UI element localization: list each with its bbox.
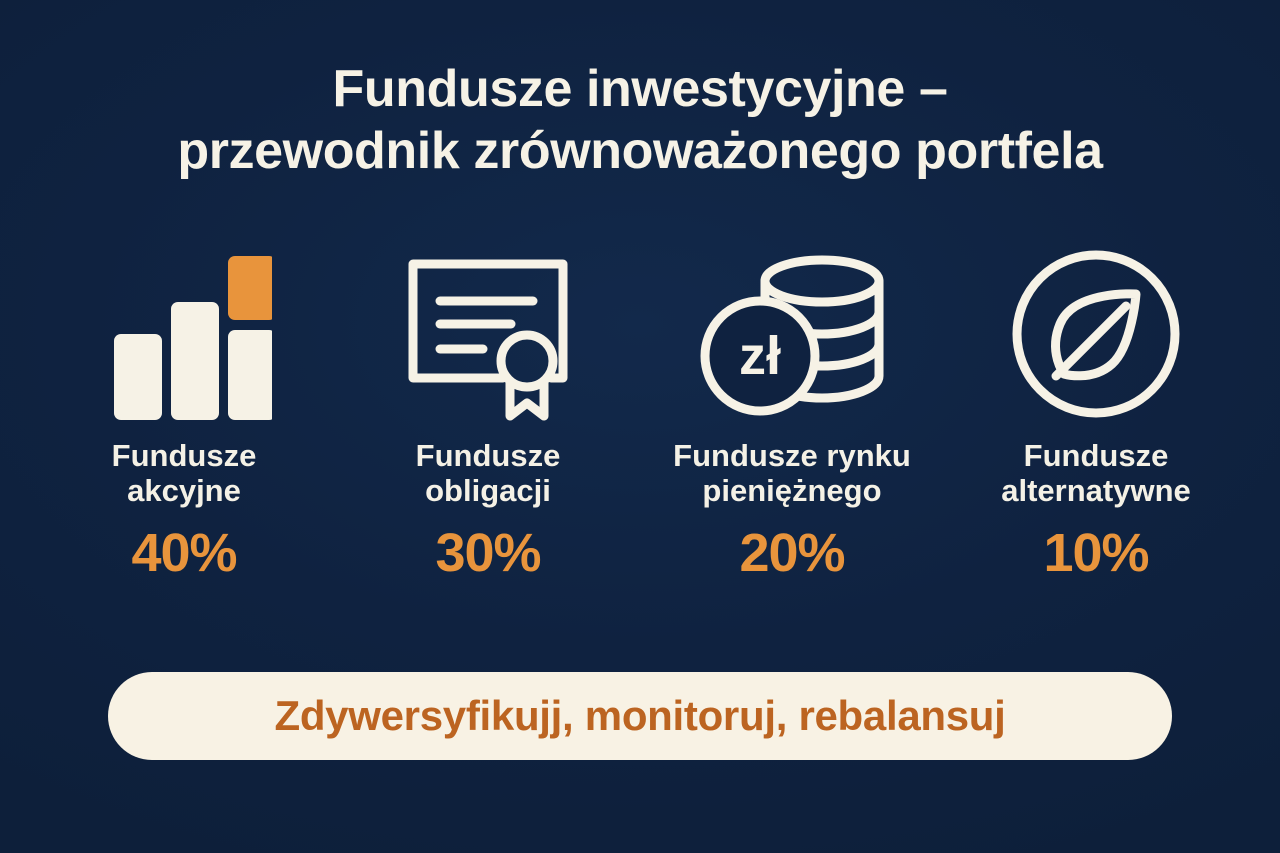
title-line-2: przewodnik zrównoważonego portfela — [40, 120, 1240, 182]
allocation-column-money-market: zł Fundusze rynku pieniężnego 20% — [656, 246, 928, 580]
column-label-line-1: Fundusze — [1001, 438, 1191, 473]
page-title: Fundusze inwestycyjne – przewodnik zrówn… — [0, 58, 1280, 183]
column-label-line-1: Fundusze — [416, 438, 561, 473]
coin-currency-label: zł — [739, 326, 781, 386]
allocation-column-equity: Fundusze akcyjne 40% — [48, 246, 320, 580]
column-label-line-1: Fundusze — [112, 438, 257, 473]
column-label-line-2: alternatywne — [1001, 473, 1191, 508]
column-label: Fundusze obligacji — [416, 438, 561, 508]
allocation-column-alternative: Fundusze alternatywne 10% — [960, 246, 1232, 580]
banner-text: Zdywersyfikujj, monitoruj, rebalansuj — [274, 692, 1005, 740]
title-line-1: Fundusze inwestycyjne – — [40, 58, 1240, 120]
certificate-icon — [393, 246, 583, 422]
column-label: Fundusze rynku pieniężnego — [673, 438, 911, 508]
coin-stack-zloty-icon: zł — [697, 246, 887, 422]
leaf-circle-icon — [1008, 246, 1184, 422]
column-percent: 40% — [131, 526, 236, 580]
column-percent: 30% — [435, 526, 540, 580]
column-percent: 20% — [739, 526, 844, 580]
column-label-line-1: Fundusze rynku — [673, 438, 911, 473]
column-percent: 10% — [1043, 526, 1148, 580]
infographic-poster: Fundusze inwestycyjne – przewodnik zrówn… — [0, 0, 1280, 853]
column-label-line-2: akcyjne — [112, 473, 257, 508]
column-label: Fundusze akcyjne — [112, 438, 257, 508]
column-label-line-2: pieniężnego — [673, 473, 911, 508]
call-to-action-banner: Zdywersyfikujj, monitoruj, rebalansuj — [108, 672, 1172, 760]
allocation-columns: Fundusze akcyjne 40% Fundusze obligacji — [48, 246, 1232, 580]
column-label: Fundusze alternatywne — [1001, 438, 1191, 508]
allocation-column-bonds: Fundusze obligacji 30% — [352, 246, 624, 580]
bar-chart-icon — [96, 246, 272, 422]
column-label-line-2: obligacji — [416, 473, 561, 508]
